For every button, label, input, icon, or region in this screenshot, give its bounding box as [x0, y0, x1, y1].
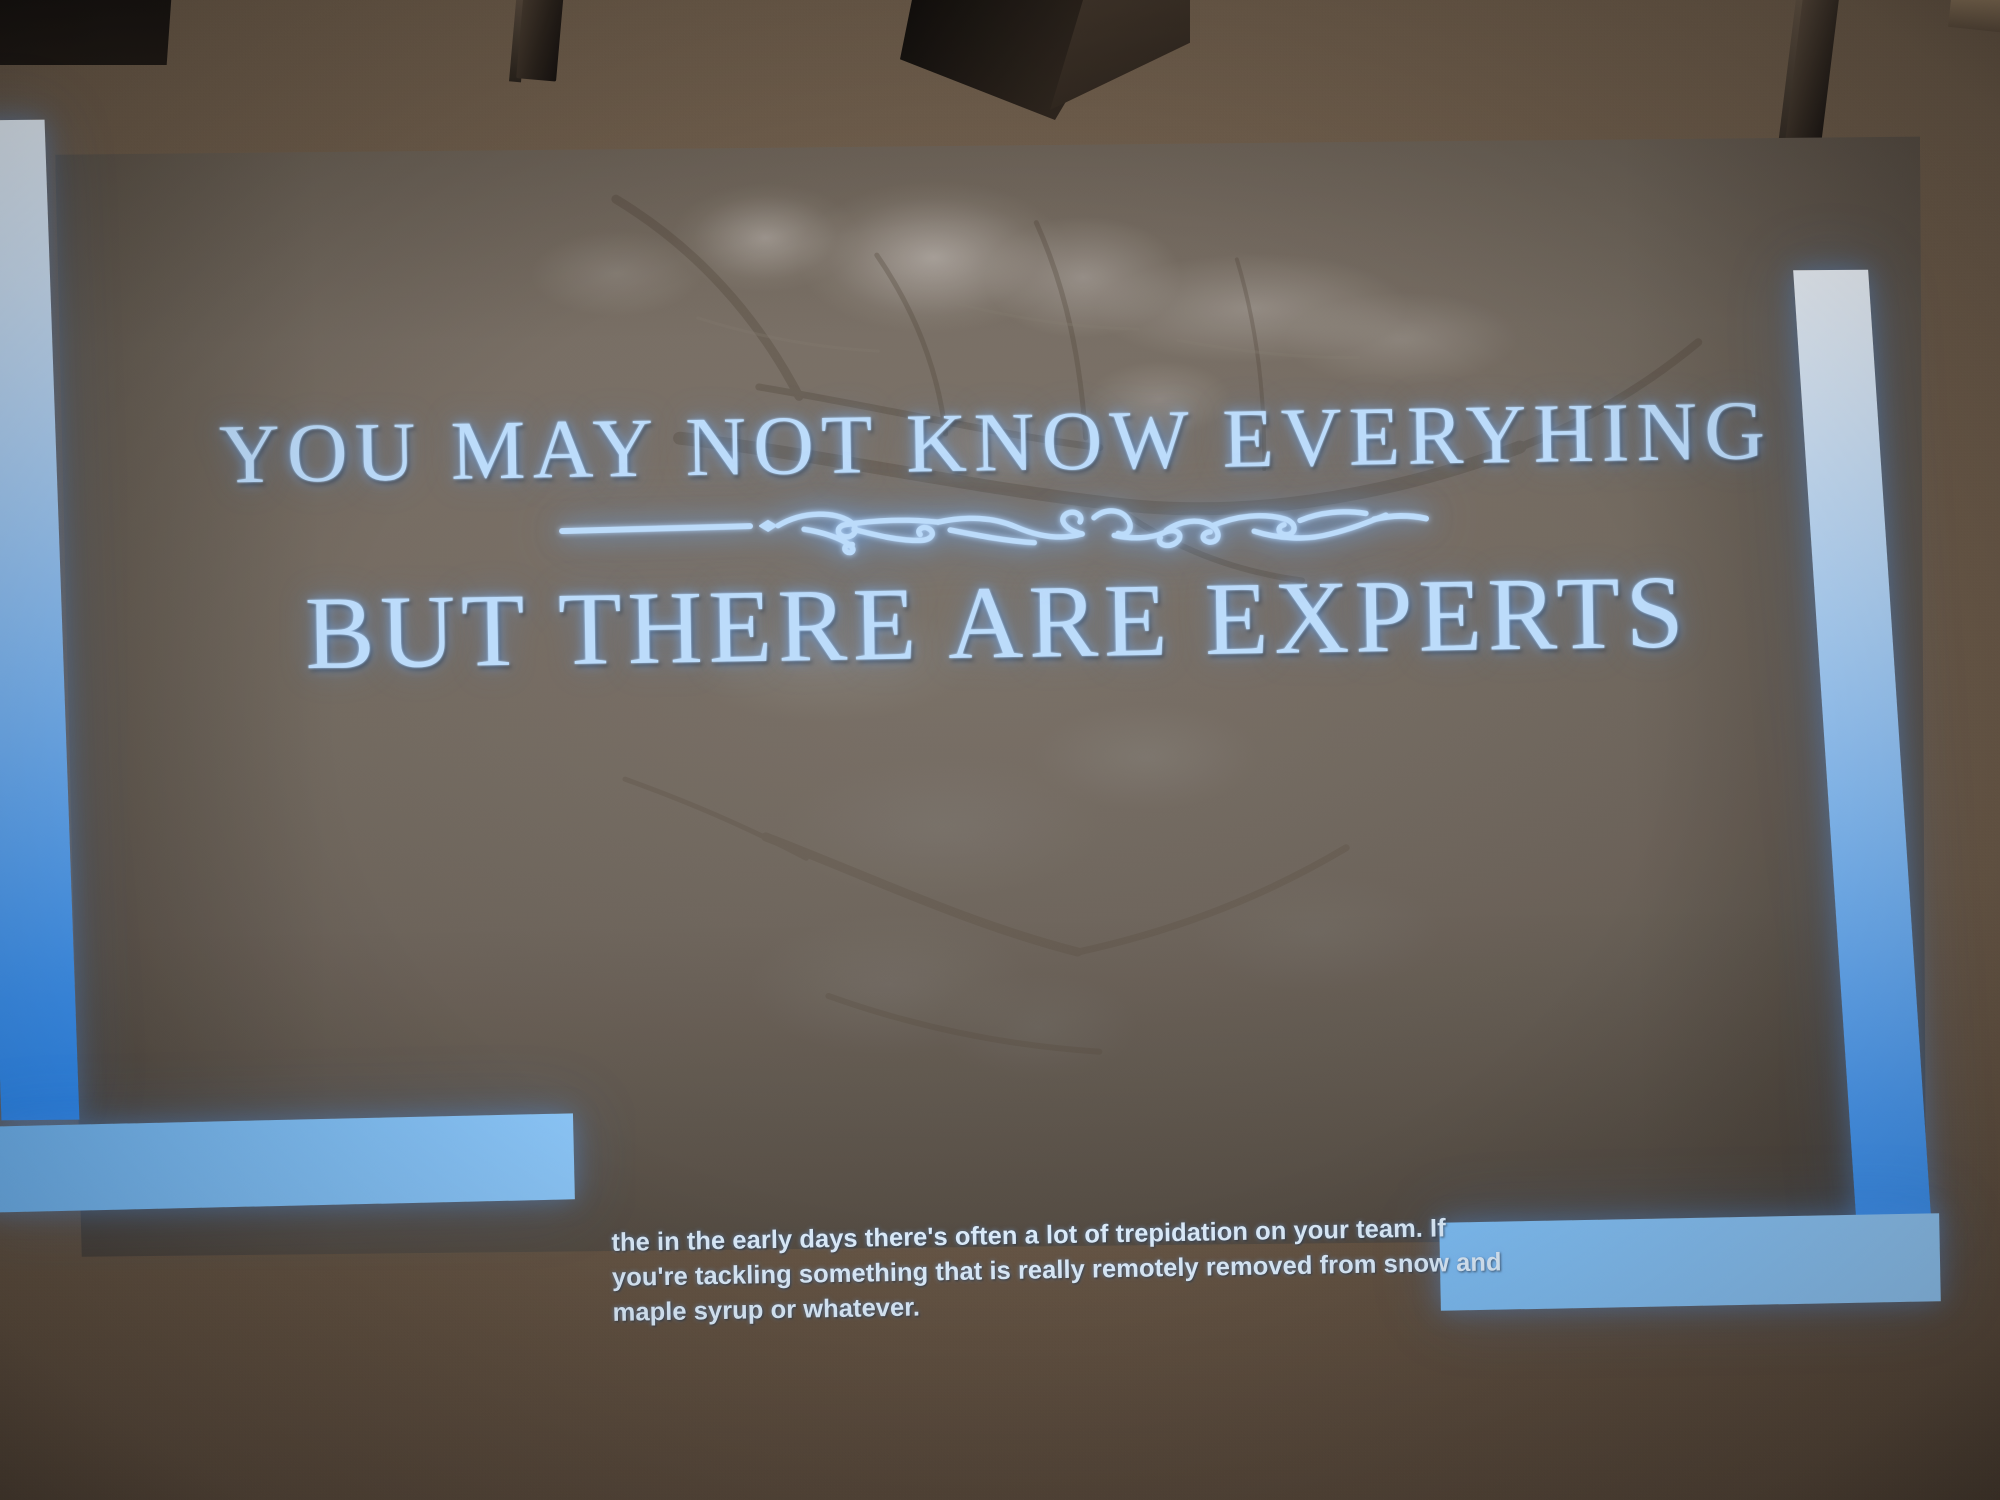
- projected-slide-photo: YOU MAY NOT KNOW EVERYHING: [0, 0, 2000, 1500]
- slide-text-block: YOU MAY NOT KNOW EVERYHING: [59, 387, 1928, 690]
- ceiling-dark-area-left: [0, 0, 173, 65]
- flourish-divider-ornament: [553, 488, 1434, 560]
- slide-light-falloff: [55, 119, 1937, 1266]
- live-caption-block: the in the early days there's often a lo…: [611, 1212, 1403, 1331]
- headline-line-2: BUT THERE ARE EXPERTS: [62, 557, 1928, 690]
- ceiling-beam-left: [516, 0, 564, 82]
- blue-accent-bar-bottom-left: [0, 1113, 575, 1212]
- blue-accent-bar-bottom-right: [1439, 1213, 1941, 1311]
- projected-slide: YOU MAY NOT KNOW EVERYHING: [55, 119, 1937, 1266]
